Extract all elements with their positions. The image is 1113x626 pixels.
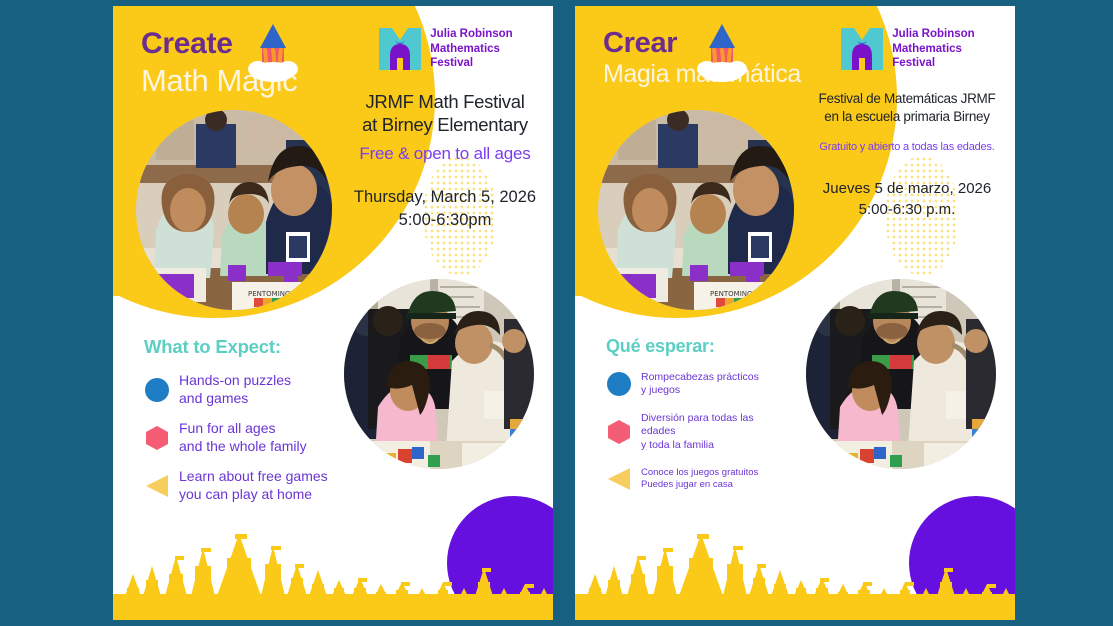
screenshot-stage: Create Math Magic xyxy=(0,0,1113,626)
event-time: 5:00-6:30 p.m. xyxy=(807,200,1007,220)
photo-family-activity xyxy=(344,279,534,469)
jrmf-logo: Julia Robinson Mathematics Festival xyxy=(345,24,545,74)
bullet-text: Diversión para todas las edades y toda l… xyxy=(641,412,754,452)
bullet-line-1: Conoce los juegos gratuitos xyxy=(641,467,758,478)
expect-title: Qué esperar: xyxy=(606,336,831,357)
list-item: Rompecabezas prácticos y juegos xyxy=(606,371,831,398)
hexagon-bullet-icon xyxy=(144,425,170,451)
event-title-line-2: at Birney Elementary xyxy=(345,113,545,136)
event-title: Festival de Matemáticas JRMF en la escue… xyxy=(807,90,1007,126)
bullet-line-2: y juegos xyxy=(641,384,680,396)
what-to-expect-block: What to Expect: Hands-on puzzles and gam… xyxy=(144,336,369,503)
jrmf-m-logo-icon xyxy=(377,24,423,74)
bullet-line-1: Fun for all ages xyxy=(179,420,276,436)
free-admission-line: Gratuito y abierto a todas las edades. xyxy=(807,141,1007,153)
event-date: Thursday, March 5, 2026 xyxy=(345,186,545,208)
flyer-spanish: Crear Magia matemática xyxy=(575,6,1015,620)
event-title: JRMF Math Festival at Birney Elementary xyxy=(345,90,545,136)
event-title-line-1: JRMF Math Festival xyxy=(345,90,545,113)
bullet-line-1: Rompecabezas prácticos xyxy=(641,371,759,383)
bullet-line-2: and the whole family xyxy=(179,438,307,454)
bullet-line-1: Learn about free games xyxy=(179,468,328,484)
logo-line-1: Julia Robinson xyxy=(430,27,512,42)
event-date: Jueves 5 de marzo, 2026 xyxy=(807,179,1007,199)
logo-line-3: Festival xyxy=(430,56,512,71)
bullet-text: Rompecabezas prácticos y juegos xyxy=(641,371,759,398)
bullet-text: Conoce los juegos gratuitos Puedes jugar… xyxy=(641,467,758,491)
triangle-bullet-icon xyxy=(606,466,632,492)
bullet-line-1: Diversión para todas las xyxy=(641,412,754,424)
what-to-expect-block: Qué esperar: Rompecabezas prácticos y ju… xyxy=(606,336,831,492)
bullet-line-2: you can play at home xyxy=(179,486,312,502)
castle-skyline-decoration xyxy=(575,516,1015,620)
list-item: Learn about free games you can play at h… xyxy=(144,468,369,504)
circle-bullet-icon xyxy=(144,377,170,403)
jrmf-logo-text: Julia Robinson Mathematics Festival xyxy=(430,27,512,71)
info-column: Julia Robinson Mathematics Festival JRMF… xyxy=(345,24,545,231)
free-admission-line: Free & open to all ages xyxy=(345,144,545,164)
event-date-time: Thursday, March 5, 2026 5:00-6:30pm xyxy=(345,186,545,231)
bullet-line-2: edades xyxy=(641,425,675,437)
info-column: Julia Robinson Mathematics Festival Fest… xyxy=(807,24,1007,220)
bullet-text: Learn about free games you can play at h… xyxy=(179,468,328,504)
logo-line-3: Festival xyxy=(892,56,974,71)
circle-bullet-icon xyxy=(606,371,632,397)
logo-line-2: Mathematics xyxy=(892,42,974,57)
event-time: 5:00-6:30pm xyxy=(345,209,545,231)
event-date-time: Jueves 5 de marzo, 2026 5:00-6:30 p.m. xyxy=(807,179,1007,220)
expect-title: What to Expect: xyxy=(144,336,369,358)
bullet-line-2: and games xyxy=(179,390,248,406)
bullet-text: Fun for all ages and the whole family xyxy=(179,420,307,456)
logo-line-2: Mathematics xyxy=(430,42,512,57)
logo-line-1: Julia Robinson xyxy=(892,27,974,42)
hexagon-bullet-icon xyxy=(606,419,632,445)
event-title-line-1: Festival de Matemáticas JRMF xyxy=(807,90,1007,108)
expect-bullet-list: Hands-on puzzles and games Fun for all a… xyxy=(144,372,369,503)
triangle-bullet-icon xyxy=(144,473,170,499)
rocket-icon xyxy=(690,20,754,86)
jrmf-m-logo-icon xyxy=(839,24,885,74)
bullet-line-3: y toda la familia xyxy=(641,439,714,451)
event-title-line-2: en la escuela primaria Birney xyxy=(807,108,1007,126)
list-item: Conoce los juegos gratuitos Puedes jugar… xyxy=(606,466,831,492)
list-item: Diversión para todas las edades y toda l… xyxy=(606,412,831,452)
flyer-english: Create Math Magic xyxy=(113,6,553,620)
jrmf-logo: Julia Robinson Mathematics Festival xyxy=(807,24,1007,74)
photo-family-activity xyxy=(806,279,996,469)
castle-skyline-decoration xyxy=(113,516,553,620)
list-item: Hands-on puzzles and games xyxy=(144,372,369,408)
rocket-icon xyxy=(241,20,305,86)
photo-children-puzzles: PENTOMINOES xyxy=(598,110,794,310)
jrmf-logo-text: Julia Robinson Mathematics Festival xyxy=(892,27,974,71)
photo-children-puzzles: PENTOMINOES xyxy=(136,110,332,310)
list-item: Fun for all ages and the whole family xyxy=(144,420,369,456)
expect-bullet-list: Rompecabezas prácticos y juegos Diversió… xyxy=(606,371,831,492)
bullet-line-2: Puedes jugar en casa xyxy=(641,479,733,490)
bullet-text: Hands-on puzzles and games xyxy=(179,372,291,408)
bullet-line-1: Hands-on puzzles xyxy=(179,372,291,388)
